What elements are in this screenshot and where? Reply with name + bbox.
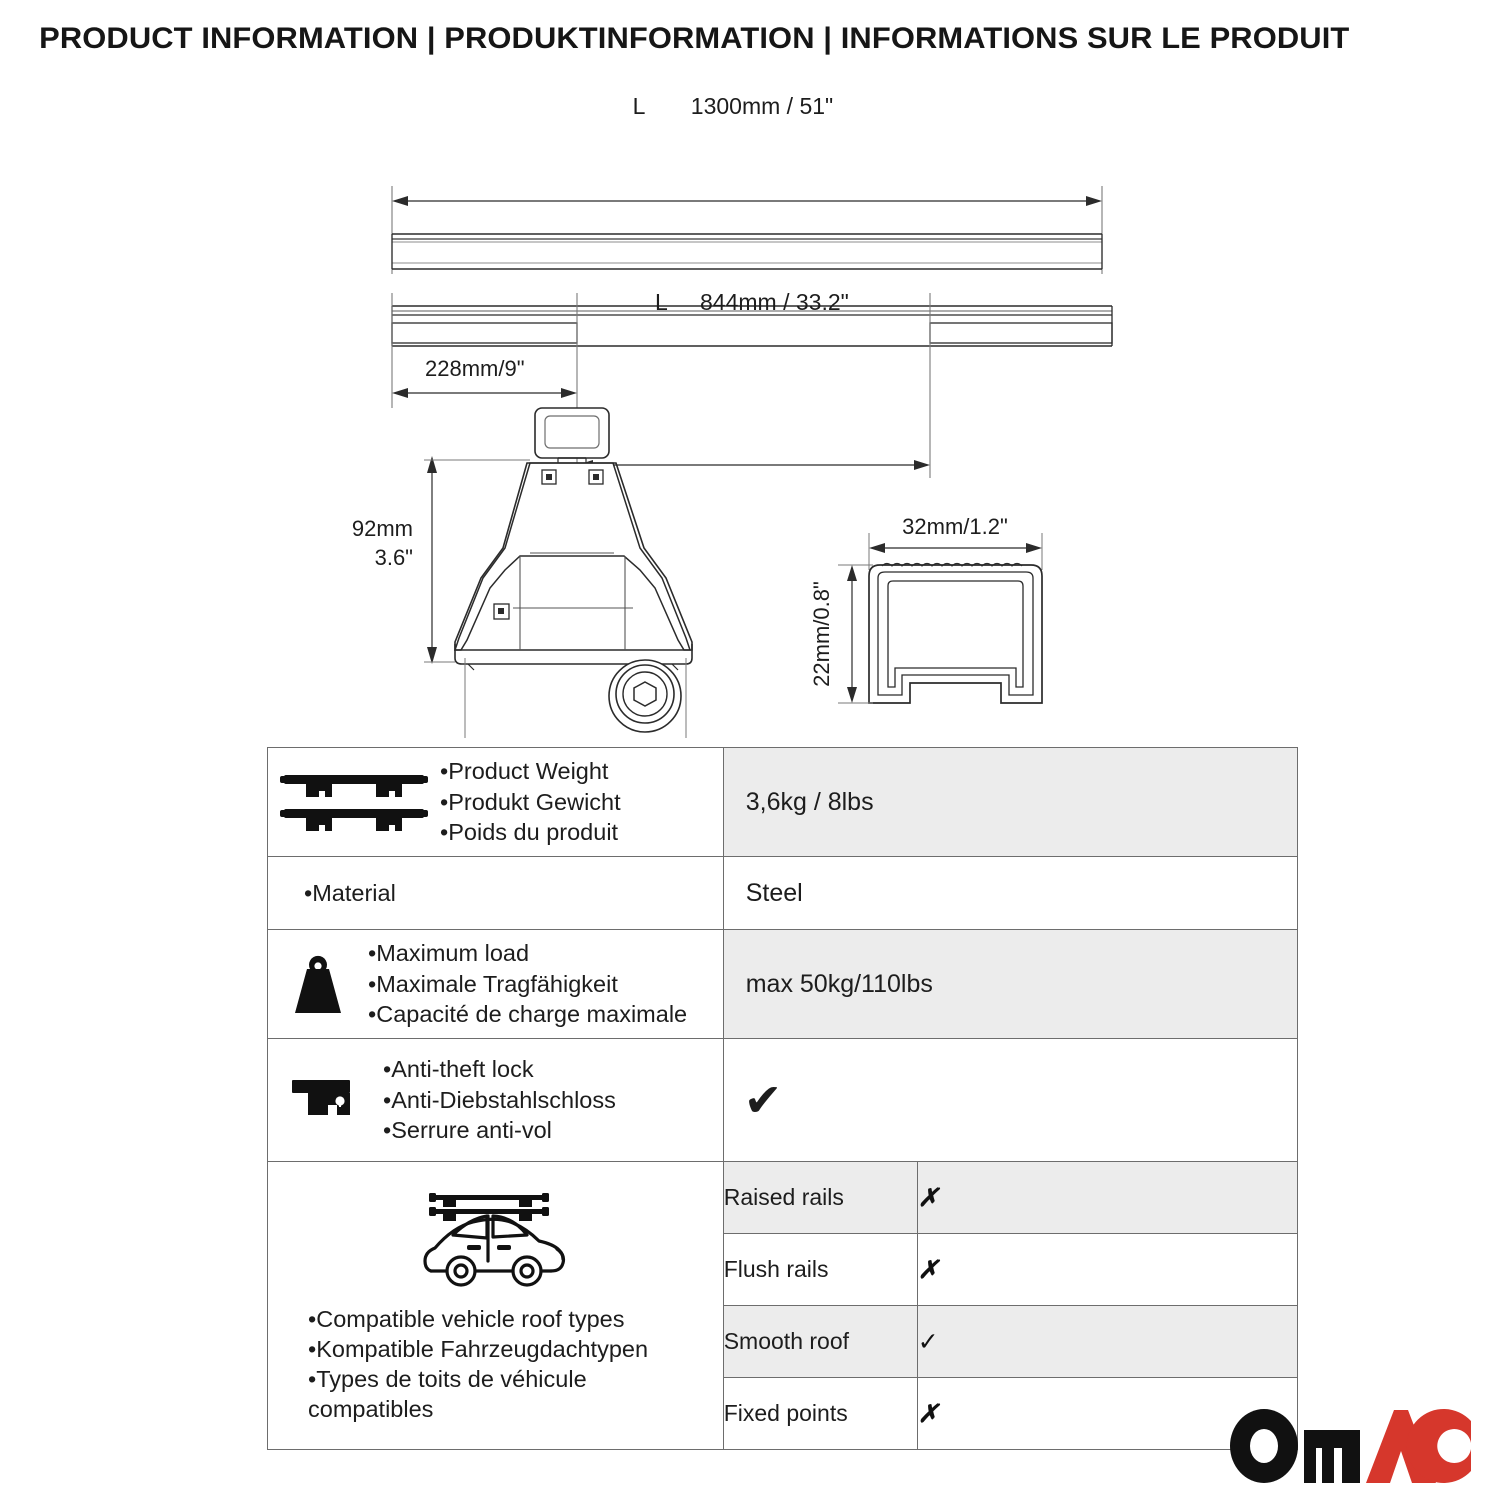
- roof-type-mark: ✗: [917, 1234, 1297, 1306]
- bar-length-value: 1300mm / 51": [691, 93, 833, 119]
- specification-table: •Product Weight •Produkt Gewicht •Poids …: [267, 747, 1298, 1450]
- foot-height-line2: 3.6": [375, 545, 413, 570]
- spec-label-line: •Material: [304, 878, 396, 909]
- roof-type-name: Smooth roof: [724, 1306, 918, 1378]
- profile-width-value: 32mm/1.2": [902, 514, 1008, 539]
- roof-type-row: Fixed points ✗: [724, 1378, 1297, 1450]
- table-row: •Anti-theft lock •Anti-Diebstahlschloss …: [268, 1039, 1298, 1162]
- spec-label-line: •Anti-theft lock: [383, 1054, 616, 1085]
- roof-types-table: Raised rails ✗ Flush rails ✗ Smooth roof…: [724, 1162, 1297, 1449]
- roof-type-mark: ✓: [917, 1306, 1297, 1378]
- spec-value-cell-material: Steel: [723, 857, 1297, 930]
- spec-label-cell-weight: •Product Weight •Produkt Gewicht •Poids …: [268, 748, 724, 857]
- roof-type-row: Flush rails ✗: [724, 1234, 1297, 1306]
- spec-labels-lock: •Anti-theft lock •Anti-Diebstahlschloss …: [383, 1054, 616, 1146]
- roof-type-row: Raised rails ✗: [724, 1162, 1297, 1234]
- omac-logo-mark: [1228, 1408, 1472, 1484]
- spec-label-cell-maxload: •Maximum load •Maximale Tragfähigkeit •C…: [268, 930, 724, 1039]
- spec-label-line: •Product Weight: [440, 756, 621, 787]
- foot-offset-value: 228mm/9": [425, 356, 525, 381]
- spec-label-line: •Maximum load: [368, 938, 687, 969]
- spec-value-cell-maxload: max 50kg/110lbs: [723, 930, 1297, 1039]
- roof-type-row: Smooth roof ✓: [724, 1306, 1297, 1378]
- table-row: •Material Steel: [268, 857, 1298, 930]
- compat-label-line: compatibles: [308, 1394, 648, 1424]
- spec-labels-maxload: •Maximum load •Maximale Tragfähigkeit •C…: [368, 938, 687, 1030]
- bar-length-prefix: L: [633, 93, 646, 119]
- spec-label-line: •Serrure anti-vol: [383, 1115, 616, 1146]
- drawing-canvas: L 1300mm / 51" 228mm/9" L 844mm / 33.2" …: [0, 78, 1500, 738]
- roof-bars-icon: [268, 769, 440, 835]
- table-row: •Maximum load •Maximale Tragfähigkeit •C…: [268, 930, 1298, 1039]
- compat-label-line: •Compatible vehicle roof types: [308, 1304, 648, 1334]
- spec-label-line: •Anti-Diebstahlschloss: [383, 1085, 616, 1116]
- foot-height-line1: 92mm: [352, 516, 413, 541]
- spread-prefix: L: [655, 289, 668, 315]
- technical-drawing: L 1300mm / 51" 228mm/9" L 844mm / 33.2" …: [0, 78, 1500, 738]
- spec-labels-weight: •Product Weight •Produkt Gewicht •Poids …: [440, 756, 621, 848]
- material-value: Steel: [724, 879, 1297, 908]
- compat-label-line: •Types de toits de véhicule: [308, 1364, 648, 1394]
- roof-type-name: Raised rails: [724, 1162, 918, 1234]
- car-with-rack-icon: [409, 1187, 581, 1300]
- spec-labels-material: •Material: [268, 878, 396, 909]
- page-header: PRODUCT INFORMATION | PRODUKTINFORMATION…: [0, 0, 1500, 78]
- table-row: •Compatible vehicle roof types •Kompatib…: [268, 1162, 1298, 1450]
- roof-type-name: Fixed points: [724, 1378, 918, 1450]
- spec-label-cell-material: •Material: [268, 857, 724, 930]
- page-title: PRODUCT INFORMATION | PRODUKTINFORMATION…: [0, 22, 1349, 56]
- spec-label-line: •Maximale Tragfähigkeit: [368, 969, 687, 1000]
- spec-label-line: •Capacité de charge maximale: [368, 999, 687, 1030]
- compat-labels: •Compatible vehicle roof types •Kompatib…: [268, 1304, 648, 1424]
- spec-value-cell-lock: ✔: [723, 1039, 1297, 1162]
- spec-label-cell-compat: •Compatible vehicle roof types •Kompatib…: [268, 1162, 724, 1450]
- omac-logo: [1228, 1408, 1472, 1484]
- product-weight-value: 3,6kg / 8lbs: [724, 788, 1297, 817]
- table-row: •Product Weight •Produkt Gewicht •Poids …: [268, 748, 1298, 857]
- roof-types-cell: Raised rails ✗ Flush rails ✗ Smooth roof…: [723, 1162, 1297, 1450]
- max-load-value: max 50kg/110lbs: [724, 970, 1297, 999]
- weight-icon: [268, 953, 368, 1015]
- spec-label-line: •Produkt Gewicht: [440, 787, 621, 818]
- lock-icon: [268, 1076, 383, 1124]
- roof-type-name: Flush rails: [724, 1234, 918, 1306]
- spec-label-line: •Poids du produit: [440, 817, 621, 848]
- anti-theft-checkmark: ✔: [724, 1077, 1297, 1123]
- spec-value-cell-weight: 3,6kg / 8lbs: [723, 748, 1297, 857]
- profile-height-value: 22mm/0.8": [809, 581, 834, 687]
- spec-label-cell-lock: •Anti-theft lock •Anti-Diebstahlschloss …: [268, 1039, 724, 1162]
- compat-label-line: •Kompatible Fahrzeugdachtypen: [308, 1334, 648, 1364]
- roof-type-mark: ✗: [917, 1162, 1297, 1234]
- spread-value: 844mm / 33.2": [700, 289, 849, 315]
